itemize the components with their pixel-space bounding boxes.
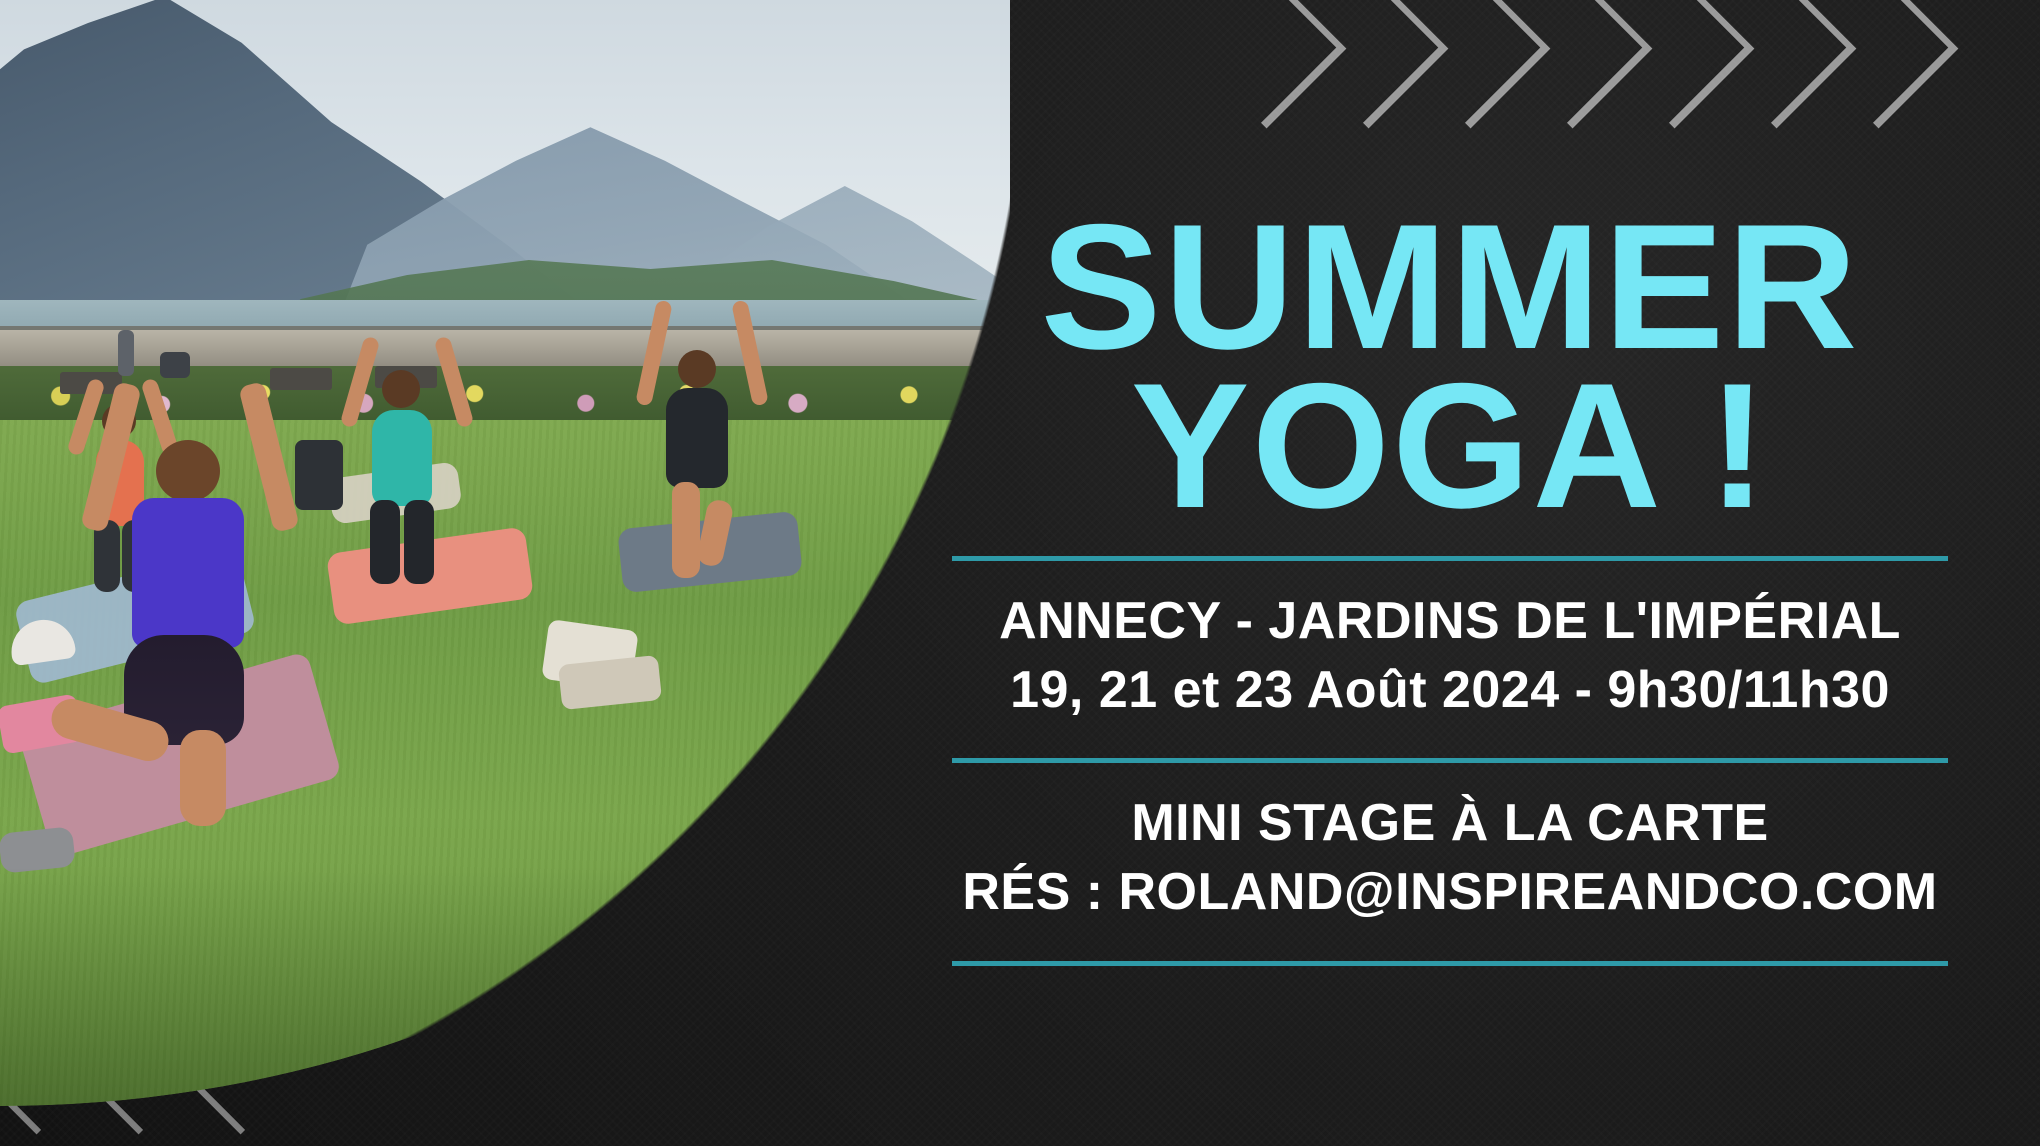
figure-torso [666,388,728,488]
event-dates: 19, 21 et 23 Août 2024 - 9h30/11h30 [930,656,1970,725]
poster-content: SUMMER YOGA ! ANNECY - JARDINS DE L'IMPÉ… [930,210,1970,992]
poster-title-line-1: SUMMER [920,210,1981,363]
event-offer: MINI STAGE À LA CARTE [930,789,1970,858]
figure-leg [695,498,734,568]
figure-leg [672,482,700,578]
yoga-participant [620,350,780,610]
chevron-decoration-top [1240,0,1930,130]
yoga-participant-foreground [60,440,340,840]
divider-top [952,556,1948,561]
figure-leg [404,500,434,584]
chevron-right-icon [1313,0,1448,129]
distant-bicycle [160,352,190,378]
poster-title-line-2: YOGA ! [930,369,1970,522]
chevron-right-icon [1721,0,1856,129]
park-bench [270,368,332,390]
hero-photo [0,0,1010,1106]
figure-torso [132,498,244,648]
divider-bottom [952,961,1948,966]
figure-head [382,370,420,408]
event-reservation-email: RÉS : ROLAND@INSPIREANDCO.COM [930,858,1970,927]
chevron-right-icon [1517,0,1652,129]
figure-leg [180,730,226,826]
yoga-participant [330,370,480,620]
figure-torso [372,410,432,506]
divider-middle [952,758,1948,763]
photo-scene [0,0,1010,1106]
figure-leg [370,500,400,584]
figure-head [156,440,220,502]
figure-head [678,350,716,388]
event-location: ANNECY - JARDINS DE L'IMPÉRIAL [930,587,1970,656]
distant-pedestrian [118,330,134,376]
chevron-right-icon [1415,0,1550,129]
poster: SUMMER YOGA ! ANNECY - JARDINS DE L'IMPÉ… [0,0,2040,1146]
lawn-shadow [0,866,1010,1106]
chevron-right-icon [1619,0,1754,129]
